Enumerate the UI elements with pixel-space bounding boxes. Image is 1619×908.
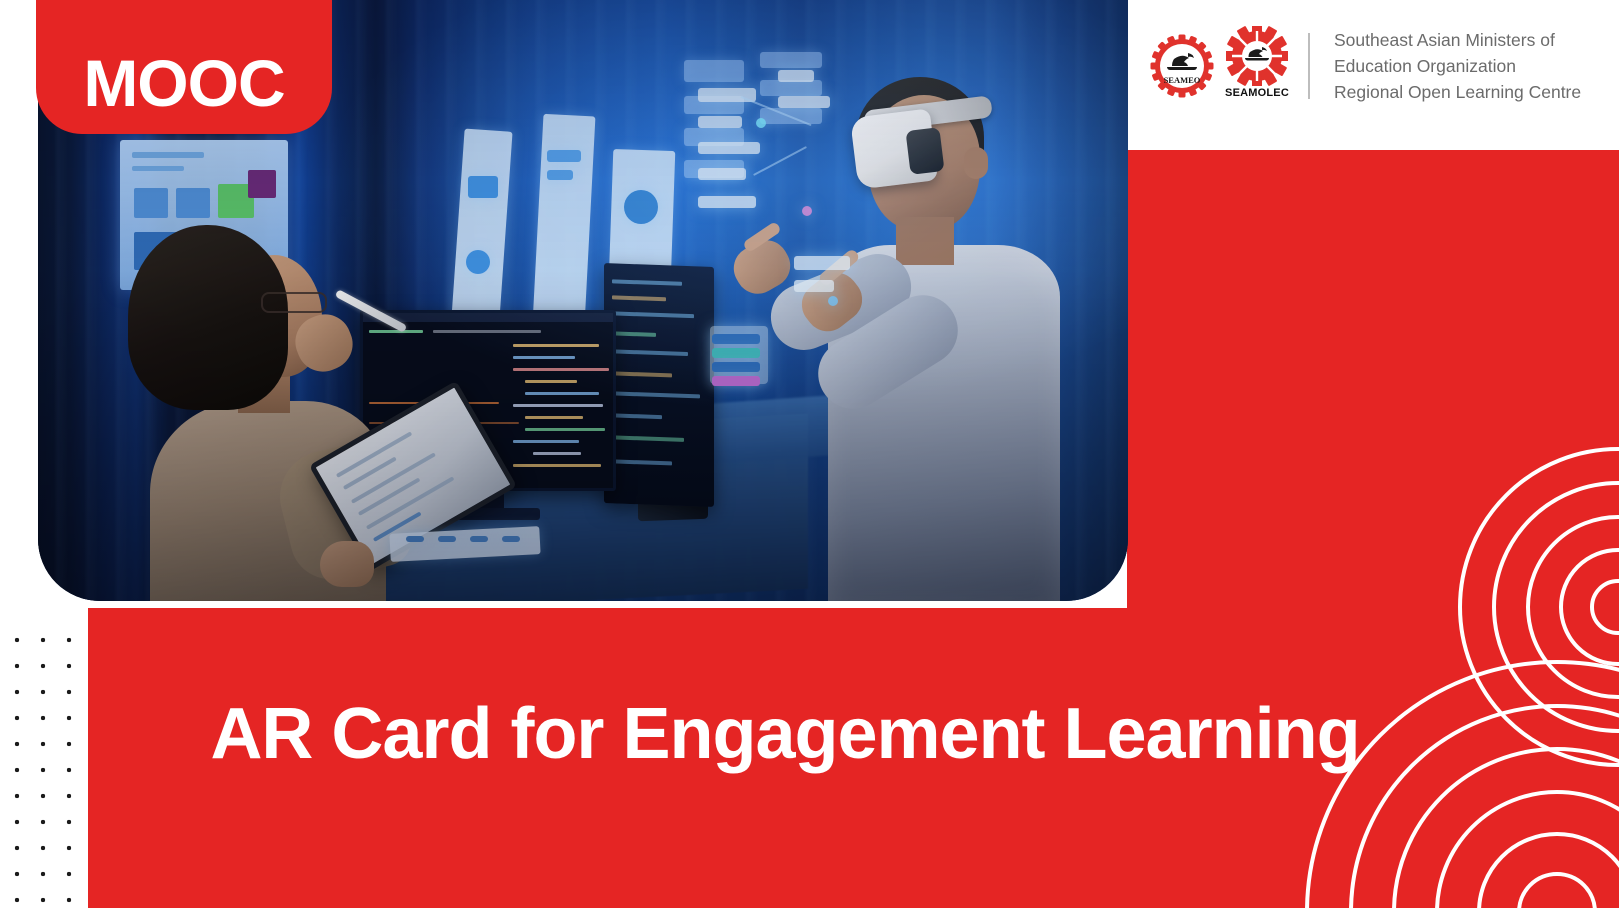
banner-canvas: MOOC [0,0,1619,908]
course-title: AR Card for Engagement Learning [140,696,1430,774]
seamolec-logo: SEAMOLEC [1224,26,1290,106]
brand-logo-lockup: SEAMEO [1150,26,1581,106]
mooc-badge: MOOC [36,0,332,134]
svg-text:SEAMEO: SEAMEO [1164,75,1201,85]
organization-line-3: Regional Open Learning Centre [1334,79,1581,105]
seameo-logo: SEAMEO [1150,34,1214,98]
seamolec-wordmark: SEAMOLEC [1225,87,1289,99]
dot-grid-decoration [0,617,88,908]
organization-line-1: Southeast Asian Ministers of [1334,27,1581,53]
organization-line-2: Education Organization [1334,53,1581,79]
organization-name: Southeast Asian Ministers of Education O… [1334,27,1581,106]
logo-divider [1308,33,1310,99]
mooc-badge-label: MOOC [83,50,284,116]
